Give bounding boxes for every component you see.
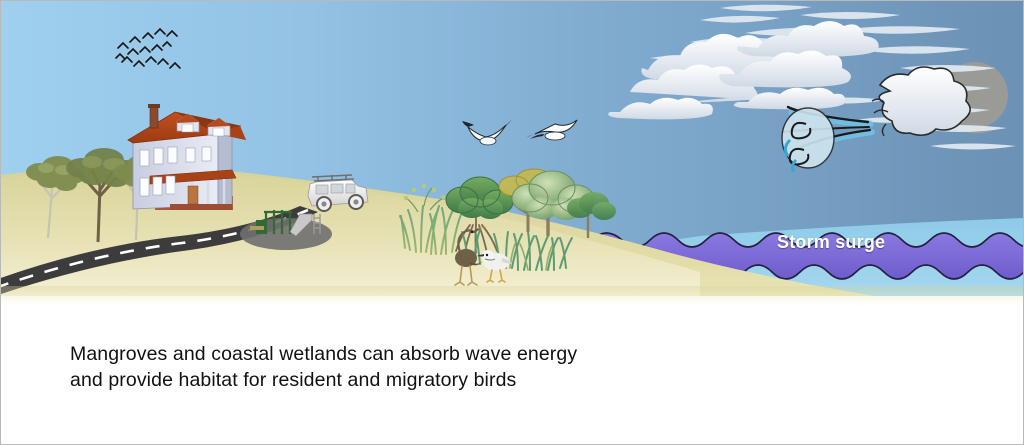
storm-surge-label: Storm surge [777,232,885,253]
caption-text: Mangroves and coastal wetlands can absor… [70,342,790,393]
illustration-scene: Storm surge Mangroves and coastal wetlan… [0,0,1024,445]
